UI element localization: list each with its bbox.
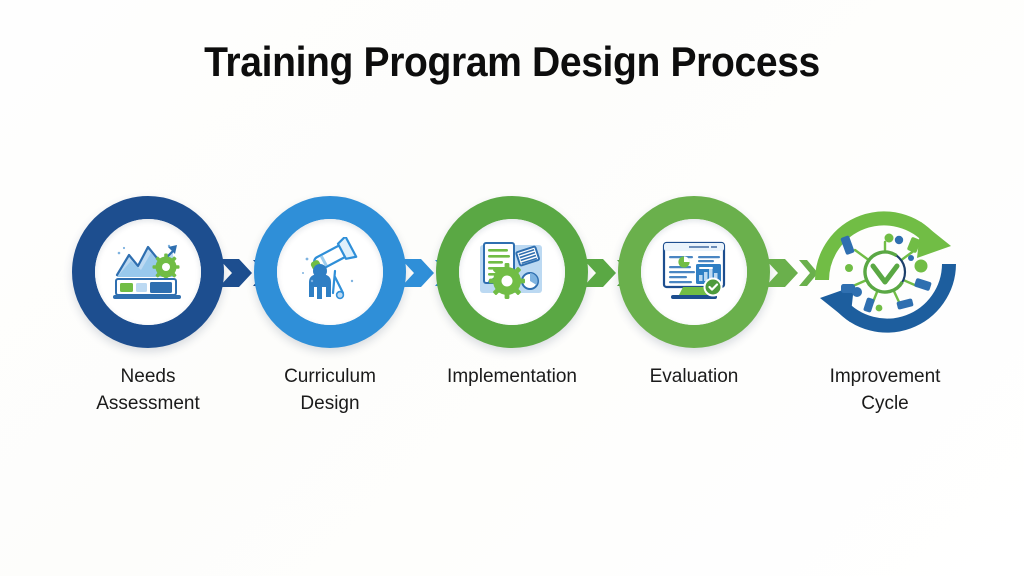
infographic-canvas: Training Program Design Process xyxy=(0,0,1024,576)
step-3-label-line1: Implementation xyxy=(424,364,600,391)
process-step-evaluation[interactable]: Evaluation xyxy=(606,196,782,446)
step-3-ring-wrap xyxy=(436,196,588,348)
process-steps-row: Needs Assessment xyxy=(0,196,1024,446)
step-2-label: Curriculum Design xyxy=(242,364,418,418)
process-step-implementation[interactable]: Implementation xyxy=(424,196,600,446)
step-5-label-line2: Cycle xyxy=(790,391,980,418)
step-2-label-line2: Design xyxy=(242,391,418,418)
step-4-ring-wrap xyxy=(618,196,770,348)
page-title: Training Program Design Process xyxy=(36,38,988,86)
chart-laptop-gear-icon xyxy=(111,239,185,305)
step-3-icon-disc xyxy=(459,219,565,325)
step-1-icon-disc xyxy=(95,219,201,325)
step-2-label-line1: Curriculum xyxy=(242,364,418,391)
step-4-icon-disc xyxy=(641,219,747,325)
step-5-cycle-wrap xyxy=(800,196,970,348)
step-5-label: Improvement Cycle xyxy=(790,364,980,418)
step-4-label-line1: Evaluation xyxy=(606,364,782,391)
step-4-label: Evaluation xyxy=(606,364,782,391)
monitor-dashboard-icon xyxy=(659,240,729,304)
process-step-curriculum-design[interactable]: Curriculum Design xyxy=(242,196,418,446)
step-1-label-line2: Assessment xyxy=(60,391,236,418)
step-2-icon-disc xyxy=(277,219,383,325)
step-2-ring-wrap xyxy=(254,196,406,348)
person-telescope-icon xyxy=(295,237,365,307)
step-3-label: Implementation xyxy=(424,364,600,391)
cycle-arrows-network-icon xyxy=(800,196,970,348)
step-1-label-line1: Needs xyxy=(60,364,236,391)
step-1-label: Needs Assessment xyxy=(60,364,236,418)
process-step-needs-assessment[interactable]: Needs Assessment xyxy=(60,196,236,446)
step-1-ring-wrap xyxy=(72,196,224,348)
step-5-label-line1: Improvement xyxy=(790,364,980,391)
process-step-improvement-cycle[interactable]: Improvement Cycle xyxy=(790,196,980,446)
document-gear-icon xyxy=(476,239,548,305)
